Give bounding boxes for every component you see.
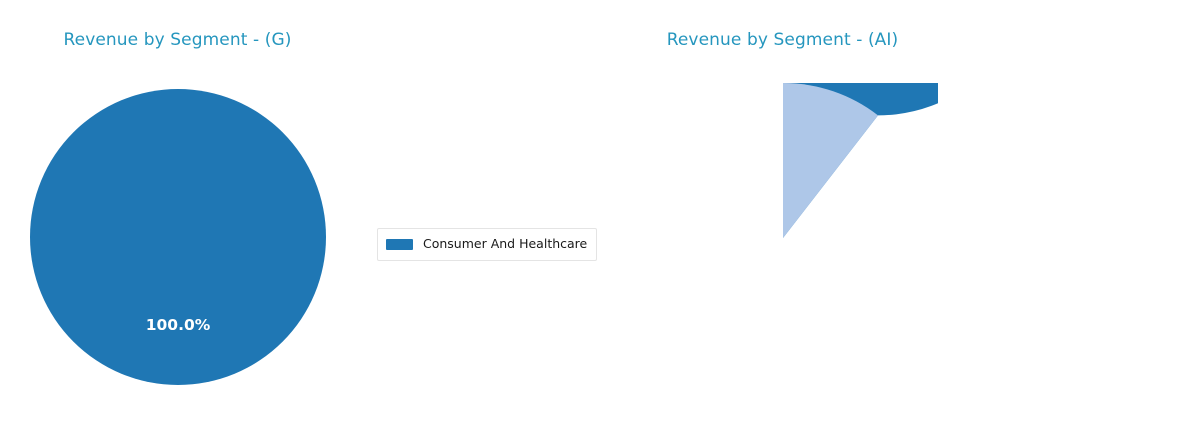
pie-svg-left [30, 89, 326, 385]
legend-item-consumer-and-healthcare[interactable]: Consumer And Healthcare [386, 235, 587, 254]
chart-title-left: Revenue by Segment - (G) [0, 30, 355, 50]
chart-panel-right: Revenue by Segment - (AI) 10.5% 89.5% Li… [600, 0, 1200, 425]
pie-chart-left [30, 89, 326, 385]
chart-panel-left: Revenue by Segment - (G) 100.0% Consumer… [0, 0, 600, 425]
pie-svg-right [628, 83, 938, 393]
legend-swatch-icon-consumer-and-healthcare [386, 239, 413, 250]
pie-slice-label-consumer-and-healthcare: 100.0% [146, 316, 211, 334]
pie-slice-consumer-and-healthcare[interactable] [30, 89, 326, 385]
pie-chart-right [628, 83, 938, 393]
legend-left: Consumer And Healthcare [377, 228, 597, 261]
figure-canvas: Revenue by Segment - (G) 100.0% Consumer… [0, 0, 1200, 425]
chart-title-right: Revenue by Segment - (AI) [605, 30, 960, 50]
legend-label-consumer-and-healthcare: Consumer And Healthcare [423, 238, 587, 251]
pie-slice-professional-services[interactable] [783, 83, 878, 238]
